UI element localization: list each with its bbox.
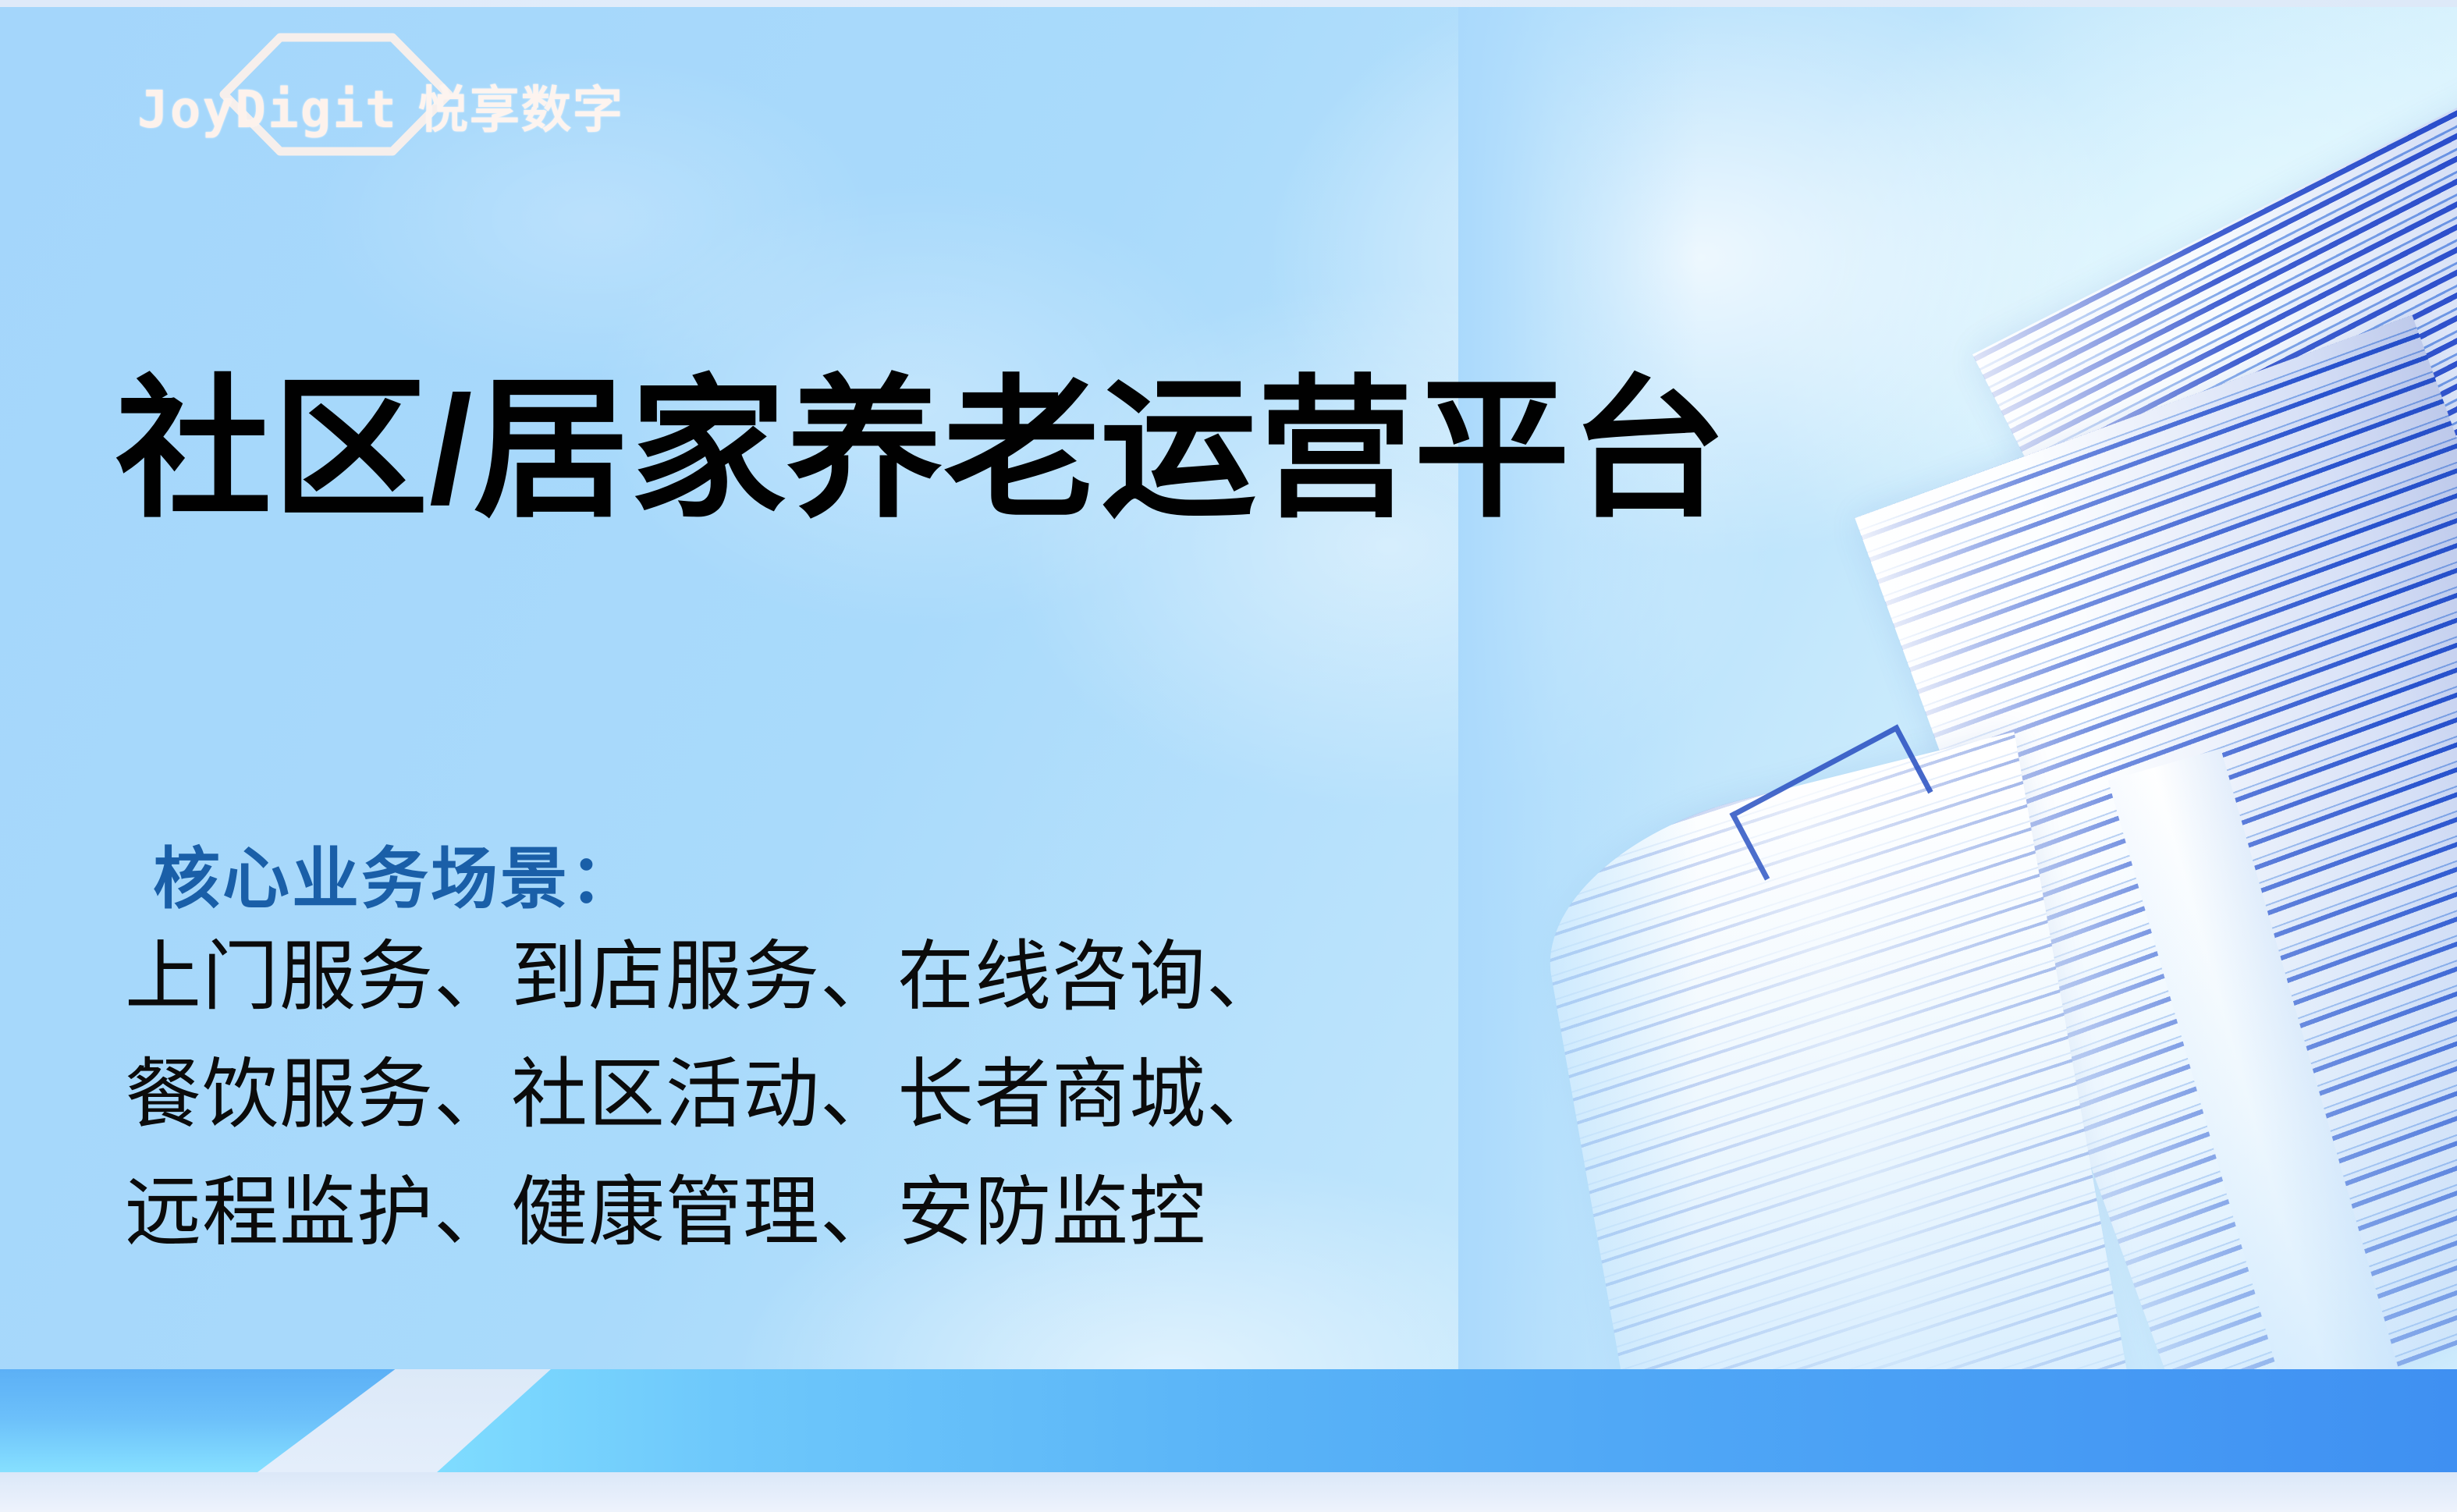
skyscraper-photo: [1458, 0, 2457, 1397]
brand-name-chinese: 悦享数字: [418, 70, 624, 142]
bottom-decorative-band: [0, 1369, 2457, 1472]
top-edge-strip: [0, 0, 2457, 7]
footer-strip: [0, 1472, 2457, 1512]
band-right-parallelogram: [437, 1369, 2457, 1472]
section-subheading: 核心业务场景：: [153, 824, 639, 921]
slide-canvas: JoyDigit 悦享数字 社区/居家养老运营平台 核心业务场景： 上门服务、到…: [0, 0, 2457, 1512]
photo-left-fade: [1458, 0, 2457, 1397]
scenario-list: 上门服务、到店服务、在线咨询、 餐饮服务、社区活动、长者商城、 远程监护、健康管…: [125, 917, 1284, 1271]
scenario-line: 上门服务、到店服务、在线咨询、: [125, 917, 1284, 1035]
scenario-line: 远程监护、健康管理、安防监控: [125, 1153, 1284, 1271]
scenario-line: 餐饮服务、社区活动、长者商城、: [125, 1035, 1284, 1153]
brand-logo[interactable]: JoyDigit 悦享数字: [137, 33, 652, 158]
brand-name-latin: JoyDigit: [137, 80, 398, 140]
brand-wordmark: JoyDigit 悦享数字: [137, 70, 624, 142]
page-title: 社区/居家养老运营平台: [115, 361, 1727, 538]
